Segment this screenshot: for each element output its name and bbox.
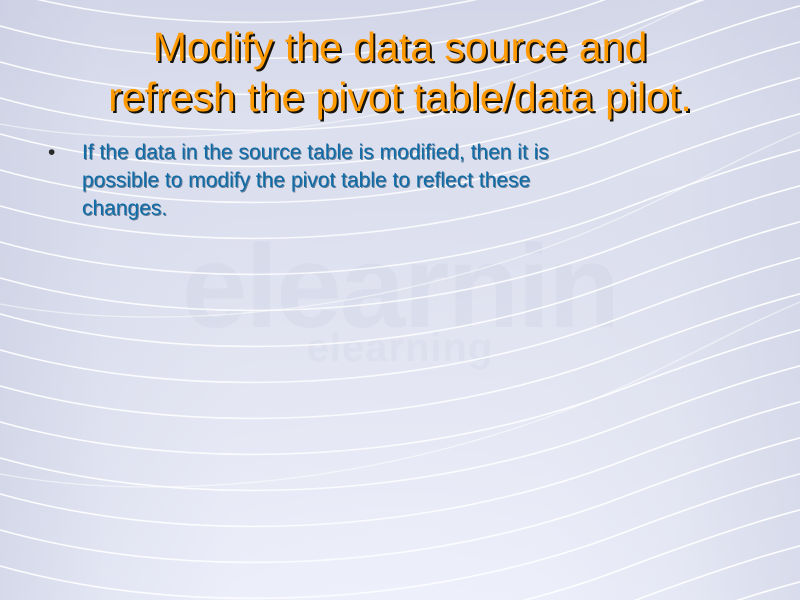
slide-title: Modify the data source and refresh the p… [20, 22, 780, 122]
bullet-text: If the data in the source table is modif… [82, 139, 604, 223]
slide-body: • If the data in the source table is mod… [44, 139, 604, 223]
slide-title-line-1: Modify the data source and [20, 22, 780, 72]
list-item: • If the data in the source table is mod… [44, 139, 604, 223]
bullet-icon: • [44, 139, 82, 167]
slide-canvas: elearnin elearning [0, 0, 800, 600]
slide-title-line-2: refresh the pivot table/data pilot. [20, 72, 780, 122]
slide-content: Modify the data source and refresh the p… [0, 0, 800, 600]
